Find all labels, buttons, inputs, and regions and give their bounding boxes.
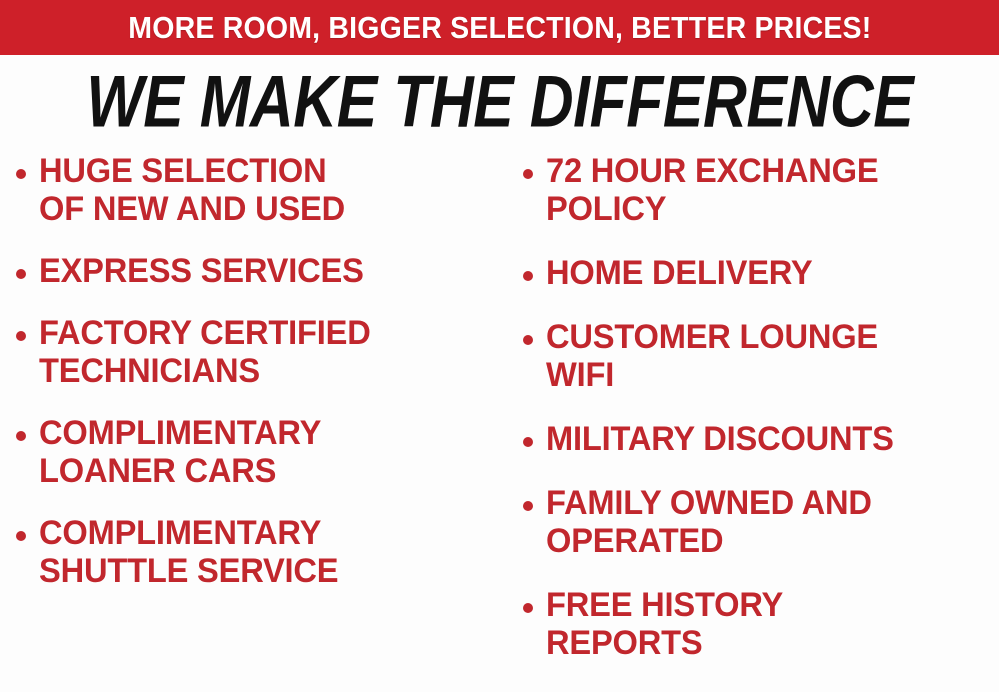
advertisement-banner: MORE ROOM, BIGGER SELECTION, BETTER PRIC… <box>0 0 999 692</box>
bullet-dot-icon <box>523 335 533 345</box>
list-item: EXPRESS SERVICES <box>16 252 505 290</box>
list-item-label: FAMILY OWNED AND OPERATED <box>546 484 872 560</box>
bullet-dot-icon <box>523 501 533 511</box>
list-item: 72 HOUR EXCHANGE POLICY <box>523 152 999 228</box>
list-item-label: 72 HOUR EXCHANGE POLICY <box>546 152 878 228</box>
list-item: HOME DELIVERY <box>523 254 999 292</box>
promo-banner: MORE ROOM, BIGGER SELECTION, BETTER PRIC… <box>0 0 999 55</box>
list-item: COMPLIMENTARY LOANER CARS <box>16 414 505 490</box>
bullet-dot-icon <box>16 331 26 341</box>
bullet-dot-icon <box>16 531 26 541</box>
benefits-columns: HUGE SELECTION OF NEW AND USEDEXPRESS SE… <box>0 152 999 692</box>
bullet-dot-icon <box>16 169 26 179</box>
page-title: WE MAKE THE DIFFERENCE <box>86 64 913 137</box>
benefits-column-left: HUGE SELECTION OF NEW AND USEDEXPRESS SE… <box>0 152 505 614</box>
bullet-dot-icon <box>523 169 533 179</box>
bullet-dot-icon <box>523 603 533 613</box>
headline-container: WE MAKE THE DIFFERENCE <box>0 62 999 140</box>
bullet-dot-icon <box>16 269 26 279</box>
list-item: CUSTOMER LOUNGE WIFI <box>523 318 999 394</box>
list-item: FAMILY OWNED AND OPERATED <box>523 484 999 560</box>
list-item-label: HUGE SELECTION OF NEW AND USED <box>39 152 345 228</box>
list-item: COMPLIMENTARY SHUTTLE SERVICE <box>16 514 505 590</box>
list-item-label: CUSTOMER LOUNGE WIFI <box>546 318 878 394</box>
list-item-label: HOME DELIVERY <box>546 254 813 292</box>
promo-banner-text: MORE ROOM, BIGGER SELECTION, BETTER PRIC… <box>128 12 871 43</box>
list-item-label: EXPRESS SERVICES <box>39 252 364 290</box>
list-item-label: FREE HISTORY REPORTS <box>546 586 783 662</box>
list-item: HUGE SELECTION OF NEW AND USED <box>16 152 505 228</box>
benefits-column-right: 72 HOUR EXCHANGE POLICYHOME DELIVERYCUST… <box>505 152 999 688</box>
bullet-dot-icon <box>523 437 533 447</box>
list-item: FREE HISTORY REPORTS <box>523 586 999 662</box>
list-item: MILITARY DISCOUNTS <box>523 420 999 458</box>
list-item-label: MILITARY DISCOUNTS <box>546 420 894 458</box>
bullet-dot-icon <box>523 271 533 281</box>
list-item: FACTORY CERTIFIED TECHNICIANS <box>16 314 505 390</box>
list-item-label: COMPLIMENTARY SHUTTLE SERVICE <box>39 514 338 590</box>
list-item-label: COMPLIMENTARY LOANER CARS <box>39 414 321 490</box>
bullet-dot-icon <box>16 431 26 441</box>
list-item-label: FACTORY CERTIFIED TECHNICIANS <box>39 314 371 390</box>
